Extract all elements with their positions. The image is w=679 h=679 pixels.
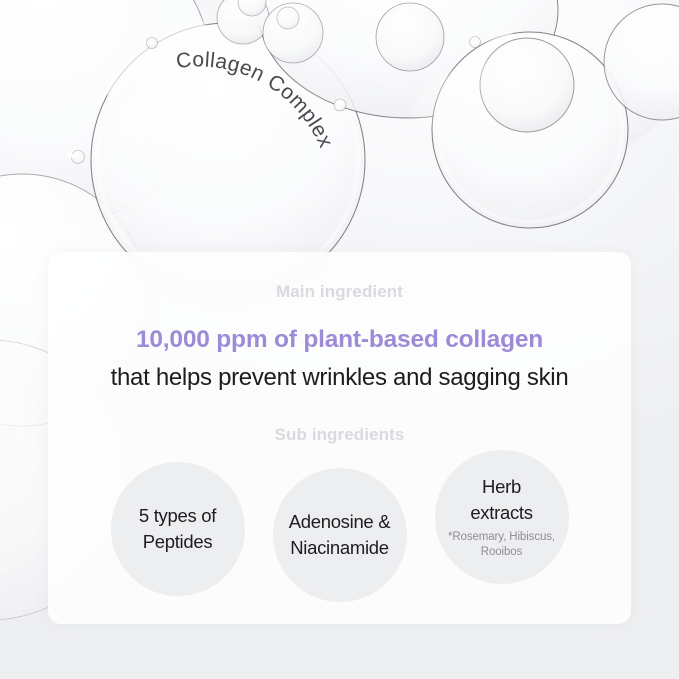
ingredient-title-line1: Adenosine & (289, 511, 391, 532)
ingredient-title-line2: Niacinamide (290, 537, 389, 558)
ingredient-info-card: Main ingredient 10,000 ppm of plant-base… (48, 252, 631, 624)
ingredient-title: Herb extracts (470, 474, 532, 527)
ingredient-title-line1: Herb (482, 476, 521, 497)
sub-ingredients-label: Sub ingredients (48, 425, 631, 445)
ingredient-title-line1: 5 types of (139, 505, 216, 526)
ingredient-footnote-line2: Rooibos (481, 546, 523, 558)
main-ingredient-subline: that helps prevent wrinkles and sagging … (48, 362, 631, 393)
sub-ingredient-circle-row: 5 types of Peptides Adenosine & Niacinam… (48, 450, 631, 584)
ingredient-title-line2: extracts (470, 502, 532, 523)
main-ingredient-headline: 10,000 ppm of plant-based collagen (48, 325, 631, 356)
bubble-mid-right-small (376, 3, 444, 71)
ingredient-title: Adenosine & Niacinamide (289, 509, 391, 562)
ingredient-footnote-line1: *Rosemary, Hibiscus, (448, 531, 555, 543)
ingredient-footnote: *Rosemary, Hibiscus, Rooibos (448, 530, 555, 560)
product-infographic: Collagen Complex Main ingredient 10,000 … (0, 0, 679, 679)
ingredient-circle-peptides: 5 types of Peptides (111, 462, 245, 596)
ingredient-title-line2: Peptides (143, 531, 213, 552)
ingredient-circle-adenosine-niacinamide: Adenosine & Niacinamide (273, 468, 407, 602)
ingredient-circle-herb-extracts: Herb extracts *Rosemary, Hibiscus, Rooib… (435, 450, 569, 584)
ingredient-title: 5 types of Peptides (139, 503, 216, 556)
main-ingredient-label: Main ingredient (48, 282, 631, 302)
